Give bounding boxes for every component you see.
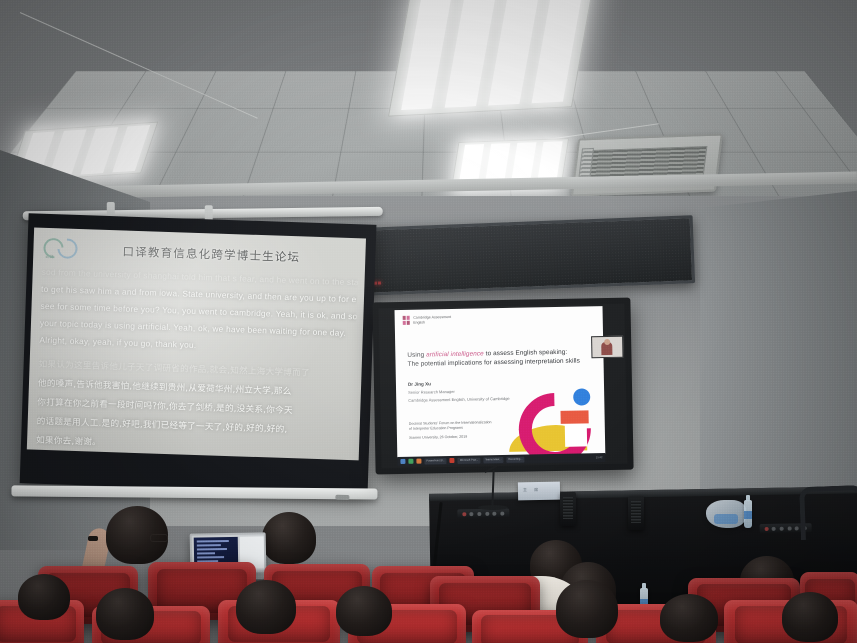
monitor-screen: Cambridge Assessment English Using artif…	[395, 306, 606, 458]
slide-title-emphasis: artificial intelligence	[426, 350, 484, 358]
caption-block-english: sod from the university of shanghai told…	[39, 264, 358, 359]
lecture-hall-photo: ■■■■■■■■ 云译 口译教育信息化跨学博士生论坛 sod from the …	[0, 0, 857, 643]
audience-head	[96, 588, 154, 640]
cambridge-assessment-logo: Cambridge Assessment English	[403, 315, 452, 325]
cambridge-logo-text: Cambridge Assessment English	[413, 315, 451, 325]
slide-title-line-2: The potential implications for assessing…	[407, 357, 593, 369]
taskbar-icon-browser[interactable]	[416, 459, 421, 464]
ceiling-light-center	[388, 0, 594, 117]
graphic-blue-circle	[573, 388, 590, 405]
taskbar-button[interactable]: Teams Meet...	[483, 457, 503, 463]
taskbar-icon-powerpoint[interactable]	[450, 458, 455, 463]
caption-block-chinese: 如果认为这里告诉他儿子天了调研省的作品,就会,知然上海大学博而了 他的嗓声,告诉…	[36, 356, 355, 461]
forum-logo-subtext: 云译	[45, 254, 54, 260]
screen-end-cap	[335, 495, 349, 500]
cambridge-graphic	[508, 374, 602, 456]
eyeglasses	[150, 534, 168, 542]
screen-border: 云译 口译教育信息化跨学博士生论坛 sod from the universit…	[20, 213, 377, 494]
speaker-right	[628, 496, 644, 530]
led-ticker-board: ■■■■■■■■	[337, 215, 695, 297]
speaker-left	[560, 492, 576, 526]
podium-control-panel-left[interactable]	[457, 508, 509, 518]
audience-head	[556, 580, 618, 638]
podium-nameplate: 主 席	[518, 482, 560, 501]
forum-banner-title: 口译教育信息化跨学博士生论坛	[83, 242, 365, 267]
event-venue-date: Xiamen University, 26 October, 2019	[409, 434, 492, 441]
slide-title-part-2: to assess English speaking:	[484, 349, 568, 358]
taskbar-clock[interactable]: 15:42	[596, 456, 603, 459]
taskbar-icon-start[interactable]	[400, 459, 405, 464]
slide-title: Using artificial intelligence to assess …	[407, 348, 593, 369]
audience-head	[262, 512, 316, 564]
water-bottle	[744, 500, 752, 528]
projection-screen: 云译 口译教育信息化跨学博士生论坛 sod from the universit…	[19, 209, 376, 502]
presenter-name: Dr Jing Xu	[408, 381, 431, 386]
audience-head	[18, 574, 70, 620]
taskbar-button[interactable]: Recording...	[506, 456, 524, 462]
presenter-organization: Cambridge Assessment English, University…	[408, 396, 509, 403]
audience-head	[336, 586, 392, 636]
taskbar-button[interactable]: Microsoft Pow...	[458, 457, 480, 463]
forum-logo-icon: 云译	[43, 236, 84, 263]
chair-frame	[799, 485, 857, 540]
brand-line-1: Cambridge Assessment	[413, 315, 451, 320]
screen-surface: 云译 口译教育信息化跨学博士生论坛 sod from the universit…	[27, 227, 366, 460]
graphic-orange-rect	[560, 410, 588, 424]
event-line-2: of Interpreter Education Programs	[409, 425, 492, 432]
nameplate-text: 主 席	[523, 487, 541, 493]
cambridge-shield-icon	[403, 316, 411, 325]
wristwatch	[88, 536, 98, 541]
presentation-monitor: Cambridge Assessment English Using artif…	[372, 298, 633, 475]
audience-head	[782, 592, 838, 642]
audience-head	[236, 580, 296, 634]
microphone-base	[478, 505, 508, 510]
taskbar-icon-explorer[interactable]	[408, 459, 413, 464]
plastic-bag	[706, 500, 746, 528]
taskbar-button[interactable]: PowerPoint Sl...	[424, 458, 447, 464]
audience-head	[660, 594, 718, 642]
slide-footer: Doctoral Students' Forum on the Internat…	[409, 420, 492, 441]
graphic-white-block	[565, 422, 587, 446]
presenter-role: Senior Research Manager	[408, 389, 455, 395]
brand-line-2: English	[413, 319, 451, 324]
presenter-video-thumbnail[interactable]	[591, 336, 623, 359]
slide-title-part-1: Using	[407, 351, 426, 358]
